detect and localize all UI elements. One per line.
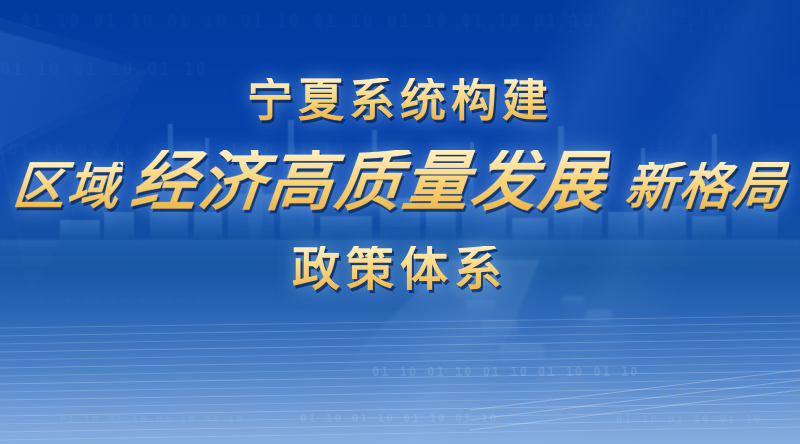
headline-block: 宁夏系统构建 区域 经济高质量发展 新格局 政策体系 <box>0 0 800 444</box>
headline-line-2-emphasis: 经济高质量发展 <box>128 150 611 216</box>
headline-line-2-prefix: 区域 <box>11 162 124 214</box>
headline-line-2: 区域 经济高质量发展 新格局 <box>13 150 787 216</box>
headline-line-3: 政策体系 <box>292 246 508 294</box>
policy-banner: 01 10 01 10 01 10 01 10 01 10 01 10 01 1… <box>0 0 800 444</box>
headline-line-1: 宁夏系统构建 <box>247 78 553 124</box>
headline-line-2-suffix: 新格局 <box>623 162 790 214</box>
